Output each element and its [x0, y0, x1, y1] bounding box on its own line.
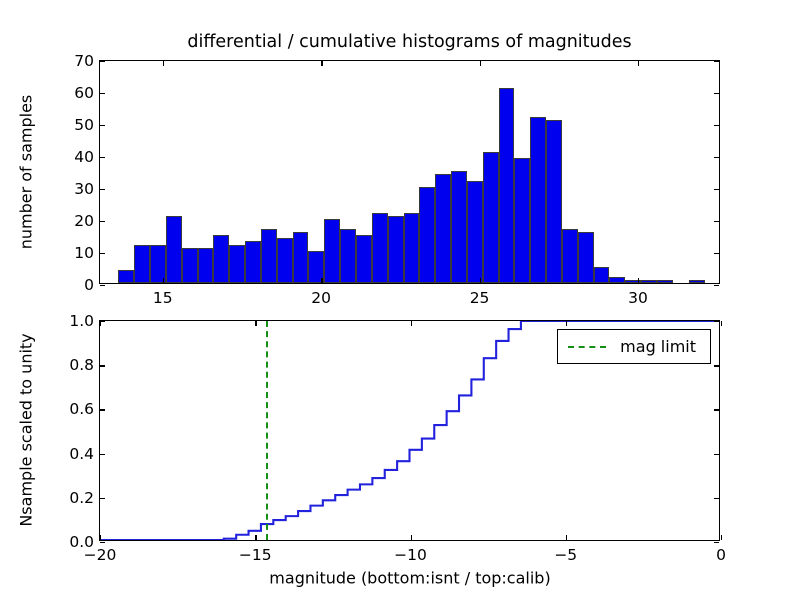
y-tick-mark — [714, 189, 719, 190]
histogram-bar — [261, 229, 277, 283]
y-tick-label: 40 — [74, 148, 94, 166]
x-axis-label: magnitude (bottom:isnt / top:calib) — [269, 569, 550, 588]
figure-canvas: differential / cumulative histograms of … — [0, 0, 800, 600]
x-tick-label: 30 — [628, 289, 648, 307]
page-title: differential / cumulative histograms of … — [99, 32, 720, 52]
y-tick-label: 0.2 — [69, 489, 94, 507]
histogram-bar — [404, 213, 420, 283]
histogram-bar — [499, 88, 515, 283]
histogram-bar — [134, 245, 150, 283]
legend: mag limit — [557, 329, 711, 364]
histogram-bar — [530, 117, 546, 283]
x-tick-mark — [411, 535, 412, 540]
x-tick-label: −5 — [554, 546, 577, 564]
y-tick-label: 0.8 — [69, 356, 94, 374]
x-tick-label: 0 — [716, 546, 726, 564]
x-tick-mark — [321, 278, 322, 283]
histogram-bar — [514, 158, 530, 283]
y-tick-mark — [100, 454, 105, 455]
y-tick-mark — [714, 253, 719, 254]
histogram-bar — [293, 232, 309, 283]
histogram-bar — [594, 267, 610, 283]
y-tick-mark — [100, 253, 105, 254]
y-tick-mark — [714, 321, 719, 322]
cumulative-histogram-panel: 0.00.20.40.60.81.0 −20−15−10−50 mag limi… — [99, 320, 720, 541]
histogram-bar — [609, 277, 625, 283]
y-tick-mark — [714, 93, 719, 94]
histogram-bar — [483, 152, 499, 283]
histogram-bar — [641, 280, 657, 283]
y-tick-label: 50 — [74, 116, 94, 134]
y-tick-mark — [100, 498, 105, 499]
y-tick-mark — [100, 189, 105, 190]
x-tick-label: −15 — [239, 546, 272, 564]
x-tick-mark — [721, 535, 722, 540]
histogram-bar — [245, 241, 261, 283]
histogram-bar — [277, 238, 293, 283]
histogram-bar — [182, 248, 198, 283]
x-tick-mark — [163, 61, 164, 66]
y-tick-mark — [100, 542, 105, 543]
y-tick-label: 70 — [74, 52, 94, 70]
x-tick-mark — [638, 61, 639, 66]
y-tick-mark — [100, 221, 105, 222]
y-tick-label: 30 — [74, 180, 94, 198]
y-tick-mark — [714, 125, 719, 126]
histogram-bar — [356, 235, 372, 283]
differential-histogram-panel: 010203040506070 15202530 — [99, 60, 720, 284]
histogram-bar — [467, 181, 483, 283]
x-tick-mark — [566, 535, 567, 540]
x-tick-mark — [721, 321, 722, 326]
y-tick-label: 20 — [74, 212, 94, 230]
y-tick-mark — [714, 542, 719, 543]
y-tick-label: 60 — [74, 84, 94, 102]
y-tick-label: 0.6 — [69, 400, 94, 418]
y-tick-mark — [714, 221, 719, 222]
histogram-bar — [657, 280, 673, 283]
y-tick-mark — [100, 285, 105, 286]
mag-limit-dash-icon — [568, 346, 606, 348]
histogram-bar — [118, 270, 134, 283]
histogram-bar — [689, 280, 705, 283]
y-tick-mark — [100, 93, 105, 94]
y-tick-mark — [100, 409, 105, 410]
y-tick-mark — [714, 454, 719, 455]
y-tick-mark — [714, 157, 719, 158]
y-tick-label: 10 — [74, 244, 94, 262]
x-tick-mark — [321, 61, 322, 66]
histogram-bar — [435, 174, 451, 283]
x-tick-mark — [100, 535, 101, 540]
x-tick-mark — [163, 278, 164, 283]
y-tick-mark — [714, 61, 719, 62]
x-tick-mark — [638, 278, 639, 283]
x-tick-mark — [411, 321, 412, 326]
histogram-bar — [419, 187, 435, 283]
histogram-bar — [340, 229, 356, 283]
histogram-bar — [213, 235, 229, 283]
x-tick-mark — [566, 321, 567, 326]
y-tick-label: 0.4 — [69, 445, 94, 463]
histogram-bar — [388, 216, 404, 283]
x-tick-label: 25 — [470, 289, 490, 307]
y-tick-mark — [714, 498, 719, 499]
histogram-bar — [372, 213, 388, 283]
y-tick-mark — [100, 365, 105, 366]
x-tick-label: 15 — [153, 289, 173, 307]
histogram-bar — [562, 229, 578, 283]
x-tick-mark — [480, 61, 481, 66]
x-tick-label: −20 — [84, 546, 117, 564]
histogram-bar — [166, 216, 182, 283]
x-tick-label: −10 — [394, 546, 427, 564]
histogram-bar — [324, 219, 340, 283]
y-tick-mark — [714, 365, 719, 366]
x-tick-mark — [255, 535, 256, 540]
y-tick-mark — [100, 157, 105, 158]
histogram-bar — [451, 171, 467, 283]
histogram-bar — [198, 248, 214, 283]
mag-limit-line — [266, 321, 268, 540]
histogram-bar — [546, 120, 562, 283]
y-axis-label-top: number of samples — [17, 95, 36, 250]
histogram-bar — [578, 232, 594, 283]
y-tick-label: 1.0 — [69, 312, 94, 330]
y-tick-mark — [714, 409, 719, 410]
x-tick-mark — [255, 321, 256, 326]
y-tick-mark — [100, 61, 105, 62]
y-tick-label: 0 — [84, 276, 94, 294]
x-tick-mark — [100, 321, 101, 326]
y-axis-label-bottom: Nsample scaled to unity — [17, 333, 36, 526]
legend-item-label: mag limit — [620, 337, 696, 356]
y-tick-mark — [100, 125, 105, 126]
x-tick-label: 20 — [311, 289, 331, 307]
histogram-bar — [229, 245, 245, 283]
x-tick-mark — [480, 278, 481, 283]
y-tick-mark — [714, 285, 719, 286]
